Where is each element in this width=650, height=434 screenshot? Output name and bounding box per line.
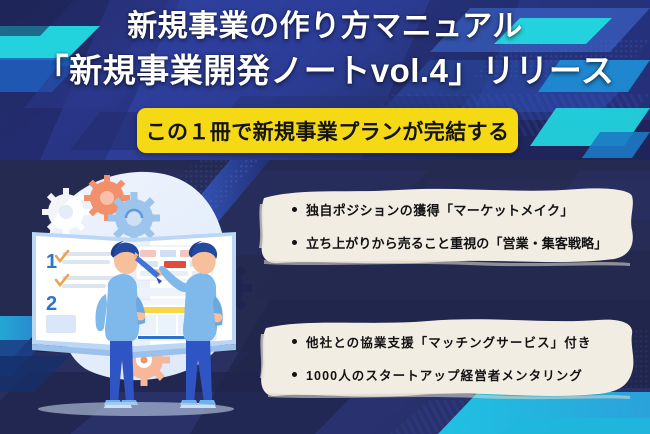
promo-banner: 1 2 3 xyxy=(0,0,650,434)
subtitle-badge: この１冊で新規事業プランが完結する xyxy=(137,108,518,153)
gear-icon-white xyxy=(42,188,90,236)
bullet-dot-icon xyxy=(292,339,297,344)
gear-icon-blue-top xyxy=(108,192,160,244)
bullet-item: 立ち上がりから売ること重視の「営業・集客戦略」 xyxy=(292,233,622,252)
book-page-number-2: 2 xyxy=(46,293,57,315)
bullet-text: 他社との協業支援「マッチングサービス」付き xyxy=(306,332,591,351)
feature-panel-bottom: 他社との協業支援「マッチングサービス」付き 1000人のスタートアップ経営者メン… xyxy=(258,316,636,400)
headline-block: 新規事業の作り方マニュアル 「新規事業開発ノートvol.4」リリース xyxy=(0,6,650,95)
bullet-dot-icon xyxy=(292,207,297,212)
illustration-two-people-book: 1 2 3 xyxy=(10,160,260,422)
bullet-text: 立ち上がりから売ること重視の「営業・集客戦略」 xyxy=(306,233,607,252)
bullet-dot-icon xyxy=(292,372,297,377)
bullet-text: 独自ポジションの獲得「マーケットメイク」 xyxy=(306,200,574,219)
headline-line-1: 新規事業の作り方マニュアル xyxy=(0,6,650,48)
bullet-item: 他社との協業支援「マッチングサービス」付き xyxy=(292,332,622,351)
bullet-item: 独自ポジションの獲得「マーケットメイク」 xyxy=(292,200,622,219)
feature-panel-top: 独自ポジションの獲得「マーケットメイク」 立ち上がりから売ること重視の「営業・集… xyxy=(258,184,636,268)
subtitle-badge-label: この１冊で新規事業プランが完結する xyxy=(146,116,510,146)
bullet-text: 1000人のスタートアップ経営者メンタリング xyxy=(306,365,583,384)
bullet-dot-icon xyxy=(292,240,297,245)
bullet-item: 1000人のスタートアップ経営者メンタリング xyxy=(292,365,622,384)
headline-line-2: 「新規事業開発ノートvol.4」リリース xyxy=(0,47,650,95)
book-page-number-1: 1 xyxy=(46,251,57,273)
